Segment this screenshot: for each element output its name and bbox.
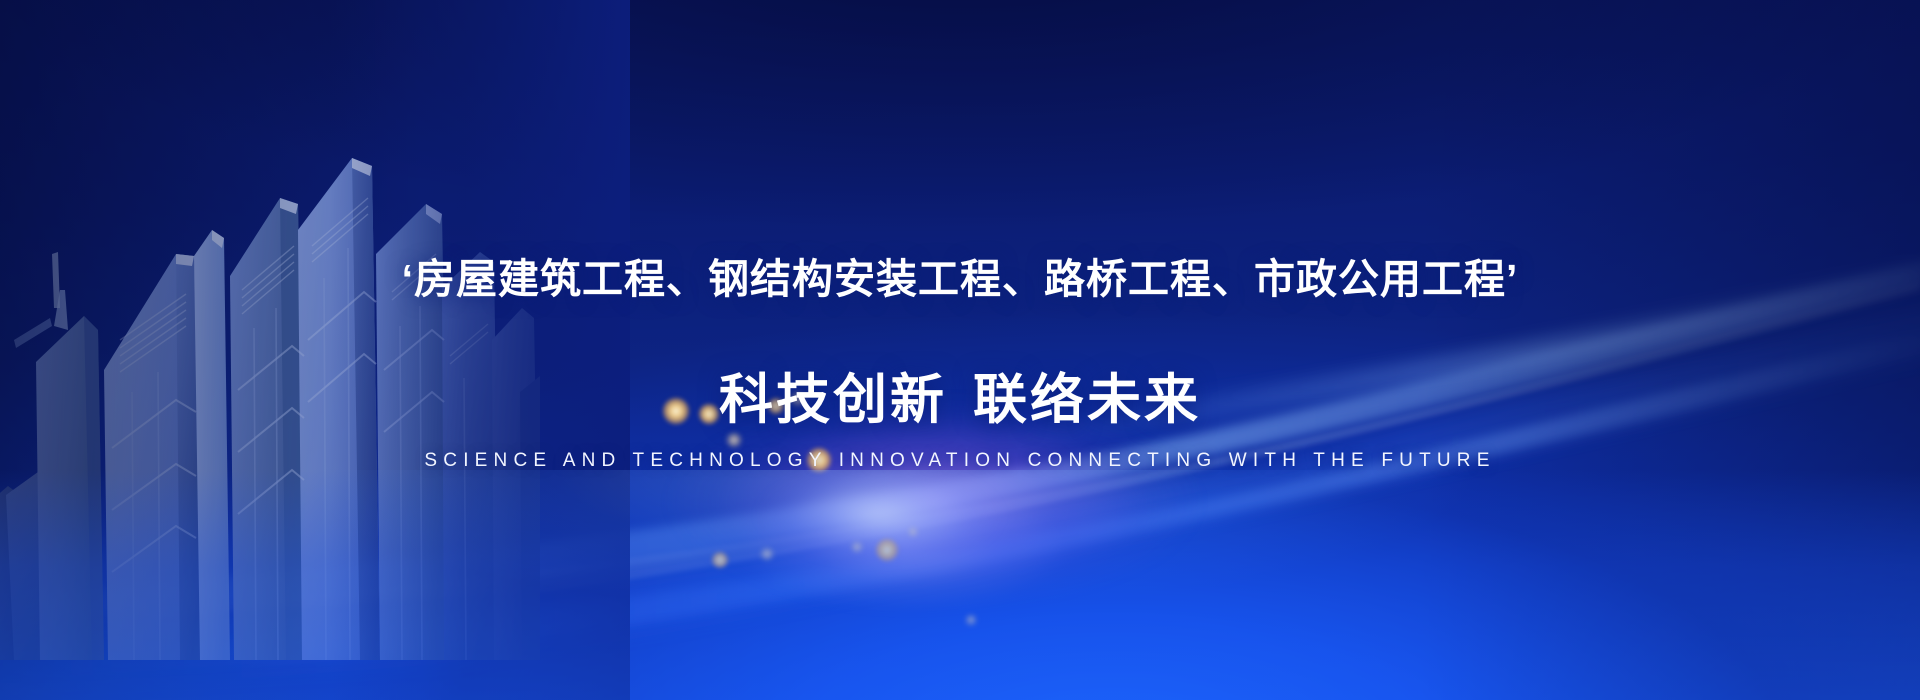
banner-text-block: ‘房屋建筑工程、钢结构安装工程、路桥工程、市政公用工程’ 科技创新联络未来 SC… [0, 0, 1920, 700]
headline-secondary-left: 科技创新 [719, 370, 947, 430]
headline-secondary-right: 联络未来 [973, 370, 1201, 430]
subtitle-english: SCIENCE AND TECHNOLOGY INNOVATION CONNEC… [0, 450, 1920, 472]
headline-secondary: 科技创新联络未来 [0, 355, 1920, 434]
headline-primary: ‘房屋建筑工程、钢结构安装工程、路桥工程、市政公用工程’ [0, 245, 1920, 305]
hero-banner: ‘房屋建筑工程、钢结构安装工程、路桥工程、市政公用工程’ 科技创新联络未来 SC… [0, 0, 1920, 700]
